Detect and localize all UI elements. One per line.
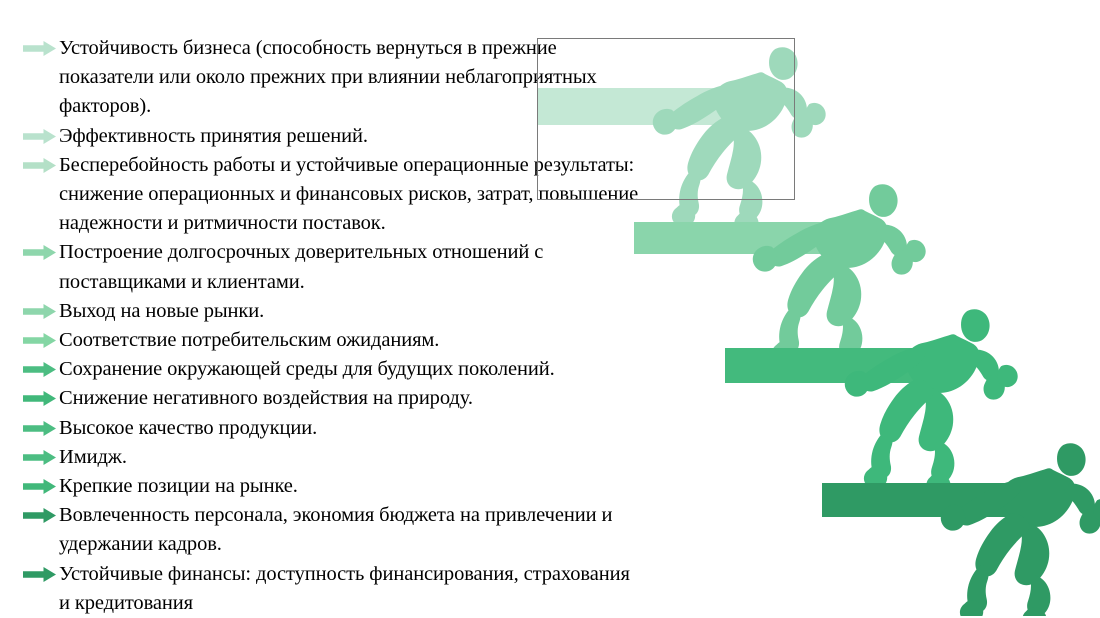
slide-canvas: Устойчивость бизнеса (способность вернут…	[0, 0, 1100, 616]
right-arrow-bullet-icon	[23, 421, 56, 436]
right-arrow-bullet-icon	[23, 391, 56, 406]
right-arrow-bullet-icon	[23, 508, 56, 523]
list-item[interactable]: Построение долгосрочных доверительных от…	[0, 238, 640, 296]
right-arrow-bullet-icon	[23, 450, 56, 465]
list-item-label: Сохранение окружающей среды для будущих …	[59, 355, 640, 384]
list-item[interactable]: Соответствие потребительским ожиданиям.	[0, 326, 640, 355]
runner-2	[753, 184, 926, 371]
right-arrow-bullet-icon	[23, 304, 56, 319]
list-item[interactable]: Снижение негативного воздействия на прир…	[0, 384, 640, 413]
right-arrow-bullet-icon	[23, 245, 56, 260]
right-arrow-bullet-icon	[23, 333, 56, 348]
step-group-4	[822, 443, 1100, 616]
right-arrow-bullet-icon	[23, 129, 56, 144]
right-arrow-bullet-icon	[23, 362, 56, 377]
right-arrow-bullet-icon	[23, 41, 56, 56]
step-group-3	[725, 309, 1018, 496]
right-arrow-bullet-icon	[23, 158, 56, 173]
list-item[interactable]: Крепкие позиции на рынке.	[0, 472, 640, 501]
list-item-label: Высокое качество продукции.	[59, 414, 640, 443]
list-item-label: Соответствие потребительским ожиданиям.	[59, 326, 640, 355]
list-item[interactable]: Имидж.	[0, 443, 640, 472]
list-item[interactable]: Выход на новые рынки.	[0, 297, 640, 326]
list-item-label: Имидж.	[59, 443, 640, 472]
list-item[interactable]: Вовлеченность персонала, экономия бюджет…	[0, 501, 640, 559]
right-arrow-bullet-icon	[23, 567, 56, 582]
list-item-label: Построение долгосрочных доверительных от…	[59, 238, 640, 296]
list-item-label: Устойчивые финансы: доступность финансир…	[59, 560, 640, 618]
list-item[interactable]: Устойчивые финансы: доступность финансир…	[0, 560, 640, 618]
list-item-label: Снижение негативного воздействия на прир…	[59, 384, 640, 413]
list-item[interactable]: Сохранение окружающей среды для будущих …	[0, 355, 640, 384]
selection-rectangle[interactable]	[537, 38, 795, 200]
right-arrow-bullet-icon	[23, 479, 56, 494]
list-item-label: Вовлеченность персонала, экономия бюджет…	[59, 501, 640, 559]
list-item-label: Крепкие позиции на рынке.	[59, 472, 640, 501]
list-item[interactable]: Высокое качество продукции.	[0, 414, 640, 443]
runner-3	[845, 309, 1018, 496]
runner-4	[941, 443, 1100, 616]
list-item-label: Выход на новые рынки.	[59, 297, 640, 326]
